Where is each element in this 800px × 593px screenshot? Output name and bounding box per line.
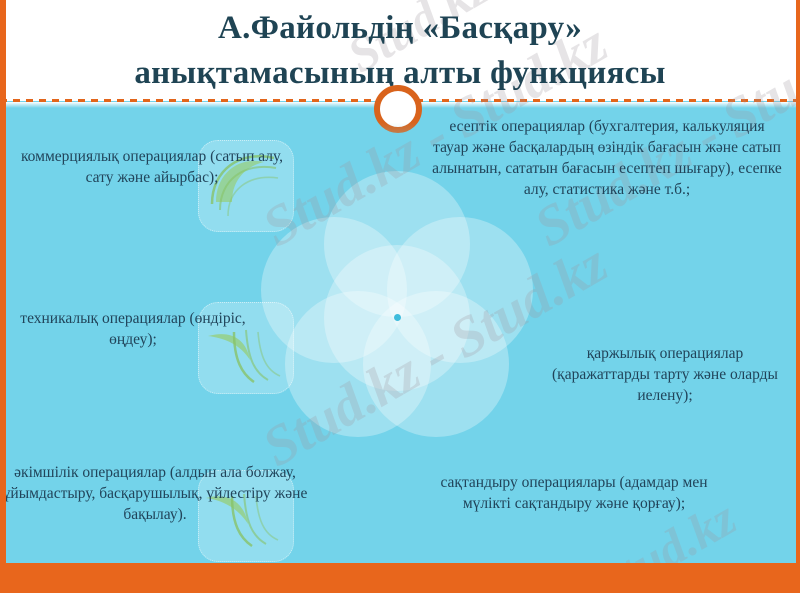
- function-text-technical: техникалық операциялар (өндіріс, өңдеу);: [8, 308, 258, 350]
- function-text-commercial: коммерциялық операциялар (сатып алу, сат…: [14, 146, 290, 188]
- function-text-financial: қаржылық операциялар (қаражаттарды тарту…: [540, 343, 790, 406]
- orange-ring-ornament: [374, 85, 422, 133]
- function-text-insurance: сақтандыру операциялары (адамдар мен мүл…: [424, 472, 724, 514]
- flower-center-dot: [394, 314, 401, 321]
- function-text-accounting: есептік операциялар (бухгалтерия, кальку…: [432, 116, 782, 200]
- right-edge-stripe: [796, 0, 800, 593]
- slide-canvas: Stud.kz - Stud.kz Stud.kz - Stud.kz Stud…: [0, 0, 800, 593]
- left-edge-stripe: [0, 0, 6, 593]
- function-text-administrative: әкімшілік операциялар (алдын ала болжау,…: [0, 462, 310, 525]
- bottom-orange-band: [0, 563, 800, 593]
